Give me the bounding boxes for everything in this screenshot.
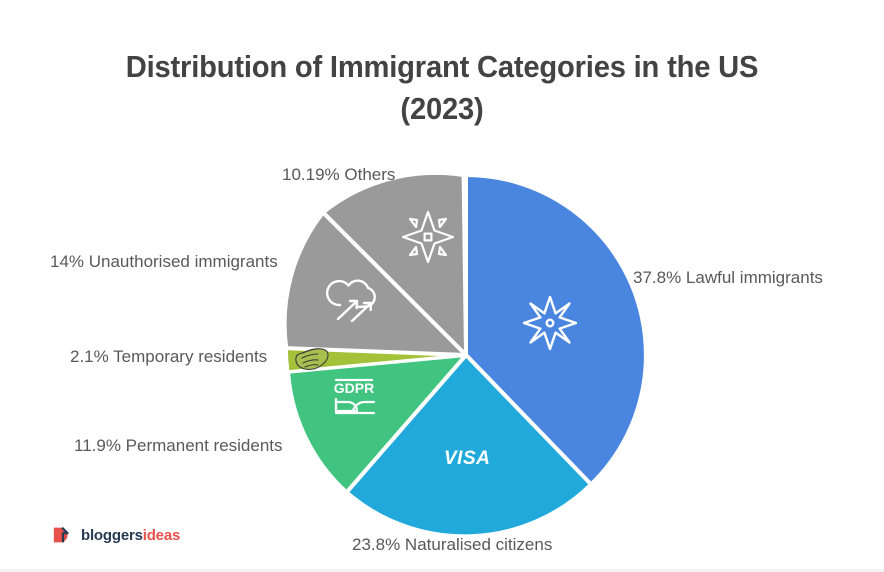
svg-text:GDPR: GDPR [334,380,374,396]
slice-label-lawful-immigrants: 37.8% Lawful immigrants [633,267,823,289]
chart-title-line-2: (2023) [113,88,771,130]
bloggersideas-logo[interactable]: bloggersideas [52,524,180,546]
logo-text-ideas: ideas [143,527,180,544]
logo-text-bloggers: bloggers [81,527,143,544]
slice-label-unauthorised-immigrants: 14% Unauthorised immigrants [50,251,278,273]
slice-label-naturalised-citizens: 23.8% Naturalised citizens [352,534,552,556]
page-title: Distribution of Immigrant Categories in … [113,46,771,130]
visa-text-icon: VISA [444,448,490,470]
hand-stamp-icon [292,340,332,374]
slice-label-temporary-residents: 2.1% Temporary residents [70,346,267,368]
slice-label-permanent-residents: 11.9% Permanent residents [74,435,283,457]
pie-chart-svg: GDPR [286,175,646,535]
bloggersideas-logo-text: bloggersideas [81,527,180,544]
slice-label-others: 10.19% Others [282,164,395,186]
chart-title-line-1: Distribution of Immigrant Categories in … [113,46,771,88]
chart-canvas: Distribution of Immigrant Categories in … [0,0,884,572]
bloggersideas-logo-mark [52,524,74,546]
pie-chart: GDPR [286,175,646,535]
